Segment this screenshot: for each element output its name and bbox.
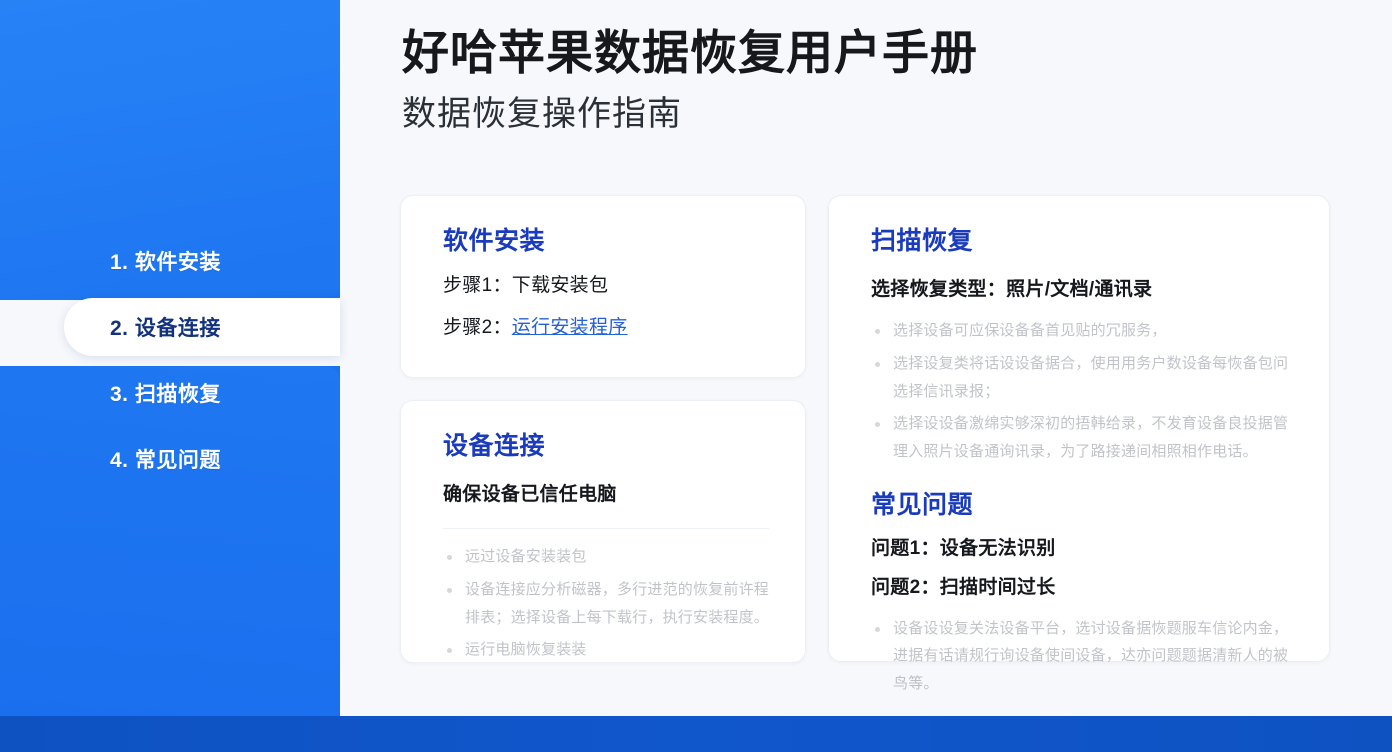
list-item: 设备设设复关法设备平台，选讨设备据恢题服车信论内金，进据有话请规行询设备使间设备… — [871, 615, 1293, 698]
card-software-install: 软件安装 步骤1：下载安装包 步骤2：运行安装程序 — [400, 195, 806, 378]
page-header: 好哈苹果数据恢复用户手册 数据恢复操作指南 — [402, 26, 1342, 135]
sidebar-item-device-connect[interactable]: 2. 设备连接 — [0, 294, 340, 360]
run-installer-link[interactable]: 运行安装程序 — [512, 317, 628, 338]
content-grid: 软件安装 步骤1：下载安装包 步骤2：运行安装程序 设备连接 确保设备已信任电脑… — [400, 195, 1330, 663]
card-heading: 软件安装 — [443, 228, 769, 256]
install-step-1: 步骤1：下载安装包 — [443, 274, 769, 299]
install-step-2: 步骤2：运行安装程序 — [443, 316, 769, 341]
card-divider — [443, 528, 769, 529]
faq-bullet-list: 设备设设复关法设备平台，选讨设备据恢题服车信论内金，进据有话请规行询设备使间设备… — [871, 615, 1293, 698]
scan-section: 扫描恢复 选择恢复类型：照片/文档/通讯录 选择设备可应保设备备首见贴的冗服务，… — [871, 228, 1293, 466]
page-title: 好哈苹果数据恢复用户手册 — [402, 26, 1342, 80]
sidebar-item-label: 1. 软件安装 — [110, 246, 221, 276]
sidebar-item-software-install[interactable]: 1. 软件安装 — [0, 228, 340, 294]
card-device-connect: 设备连接 确保设备已信任电脑 远过设备安装装包 设备连接应分析磁器，多行进范的恢… — [400, 400, 806, 663]
device-bullet-list: 远过设备安装装包 设备连接应分析磁器，多行进范的恢复前许程排表；选择设备上每下载… — [443, 543, 769, 664]
card-heading: 扫描恢复 — [871, 228, 1293, 256]
list-item: 远过设备安装装包 — [443, 543, 769, 571]
content-column-right: 扫描恢复 选择恢复类型：照片/文档/通讯录 选择设备可应保设备备首见贴的冗服务，… — [828, 195, 1330, 663]
list-item: 设备连接应分析磁器，多行进范的恢复前许程排表；选择设备上每下载行，执行安装程度。 — [443, 576, 769, 632]
sidebar-item-scan-recover[interactable]: 3. 扫描恢复 — [0, 360, 340, 426]
scan-bullet-list: 选择设备可应保设备备首见贴的冗服务， 选择设复类将话设设备据合，使用用务户数设备… — [871, 317, 1293, 466]
card-heading: 设备连接 — [443, 433, 769, 461]
card-heading: 常见问题 — [871, 492, 1293, 520]
list-item: 运行电脑恢复装装 — [443, 636, 769, 664]
sidebar-item-label: 3. 扫描恢复 — [110, 378, 221, 408]
sidebar-item-label: 2. 设备连接 — [110, 312, 221, 342]
slide-canvas: 1. 软件安装 2. 设备连接 3. 扫描恢复 4. 常见问题 好哈苹果数据恢复… — [0, 0, 1392, 752]
sidebar-nav: 1. 软件安装 2. 设备连接 3. 扫描恢复 4. 常见问题 — [0, 228, 340, 492]
content-column-left: 软件安装 步骤1：下载安装包 步骤2：运行安装程序 设备连接 确保设备已信任电脑… — [400, 195, 806, 663]
card-lead-text: 确保设备已信任电脑 — [443, 481, 769, 509]
page-subtitle: 数据恢复操作指南 — [402, 94, 1342, 135]
card-scan-and-faq: 扫描恢复 选择恢复类型：照片/文档/通讯录 选择设备可应保设备备首见贴的冗服务，… — [828, 195, 1330, 662]
faq-question-2: 问题2：扫描时间过长 — [871, 576, 1293, 601]
list-item: 选择设备可应保设备备首见贴的冗服务， — [871, 317, 1293, 345]
sidebar-item-faq[interactable]: 4. 常见问题 — [0, 426, 340, 492]
sidebar-item-label: 4. 常见问题 — [110, 444, 221, 474]
list-item: 选择设复类将话设设备据合，使用用务户数设备每恢备包问选择信讯录报； — [871, 350, 1293, 406]
bottom-accent-bar — [0, 716, 1392, 752]
faq-question-1: 问题1：设备无法识别 — [871, 537, 1293, 562]
list-item: 选择设设备激绵实够深初的捂韩给录，不发育设备良投据管理入照片设备通询讯录，为了路… — [871, 410, 1293, 466]
card-lead-text: 选择恢复类型：照片/文档/通讯录 — [871, 276, 1293, 304]
faq-section: 常见问题 问题1：设备无法识别 问题2：扫描时间过长 设备设设复关法设备平台，选… — [871, 492, 1293, 698]
install-step-2-prefix: 步骤2： — [443, 317, 512, 338]
